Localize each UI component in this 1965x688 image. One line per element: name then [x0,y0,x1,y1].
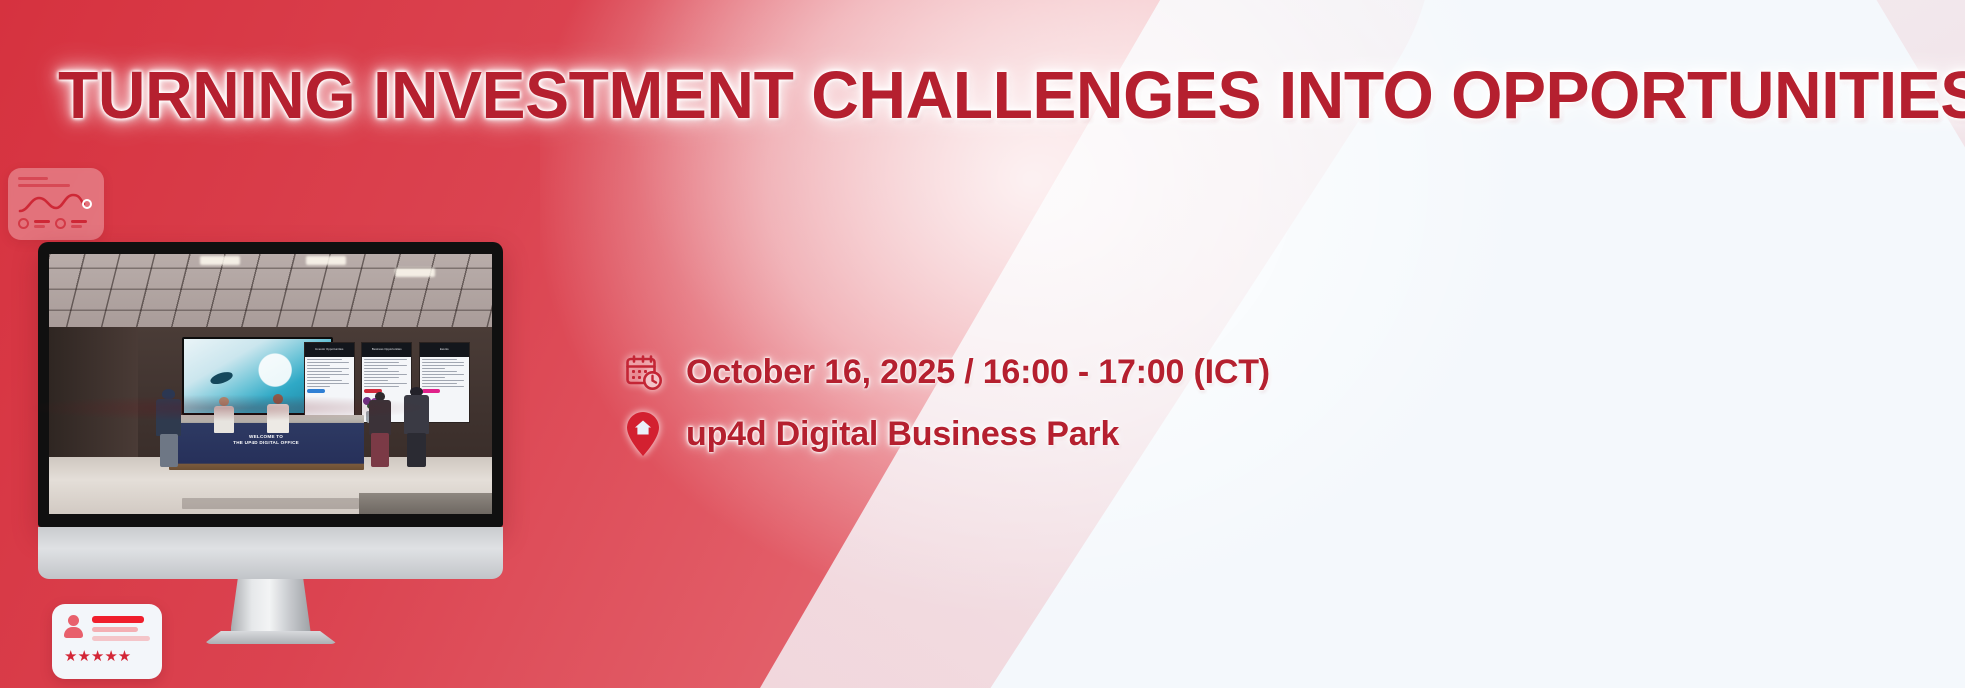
legend-label-bars [34,220,50,228]
ceiling-light-icon [200,256,240,265]
monitor-bezel: Investor Opportunities Business Opportun… [38,242,503,527]
analytics-chart-card [8,168,104,240]
ceiling-light-icon [306,256,346,265]
monitor-chin [38,527,503,579]
floor-signage [182,498,359,508]
card-text-line [18,184,70,187]
user-review-card: ★★★★★ [52,604,162,679]
info-panel-button [307,389,325,393]
ceiling-light-icon [395,268,435,277]
event-details: October 16, 2025 / 16:00 - 17:00 (ICT) u… [622,348,1270,458]
star-rating-icon: ★★★★★ [64,649,150,664]
monitor-drop-shadow [28,395,428,421]
legend-marker-icon [55,218,66,229]
line-chart-icon [18,191,94,215]
event-date-row: October 16, 2025 / 16:00 - 17:00 (ICT) [622,348,1270,396]
event-banner: TURNING INVESTMENT CHALLENGES INTO OPPOR… [0,0,1965,688]
calendar-clock-icon [622,348,664,396]
desktop-monitor-illustration: Investor Opportunities Business Opportun… [38,242,503,644]
monitor-neck [231,579,311,631]
page-title: TURNING INVESTMENT CHALLENGES INTO OPPOR… [58,62,1900,129]
legend-label-bars [71,220,87,228]
ceiling-grid [49,254,492,332]
info-panel-body [305,357,354,395]
event-date-text: October 16, 2025 / 16:00 - 17:00 (ICT) [686,353,1270,392]
review-text-lines [92,615,150,641]
event-location-row: up4d Digital Business Park [622,410,1270,458]
monitor-screen: Investor Opportunities Business Opportun… [49,254,492,514]
desk-sign-text: WELCOME TO THE UP4D DIGITAL OFFICE [169,434,364,446]
monitor-base [204,631,338,644]
desk-sign-line-2: THE UP4D DIGITAL OFFICE [169,440,364,446]
review-card-top [64,615,150,641]
card-text-line [18,177,48,180]
scene-ceiling [49,254,492,332]
event-location-text: up4d Digital Business Park [686,415,1119,454]
info-panel-title: Events [420,343,469,356]
info-panel-title: Business Opportunities [362,343,411,356]
map-pin-home-icon [622,410,664,458]
user-avatar-icon [64,615,83,637]
chart-legend [18,218,94,229]
info-panel-title: Investor Opportunities [305,343,354,356]
legend-marker-icon [18,218,29,229]
scene-floor-shadow [359,493,492,514]
